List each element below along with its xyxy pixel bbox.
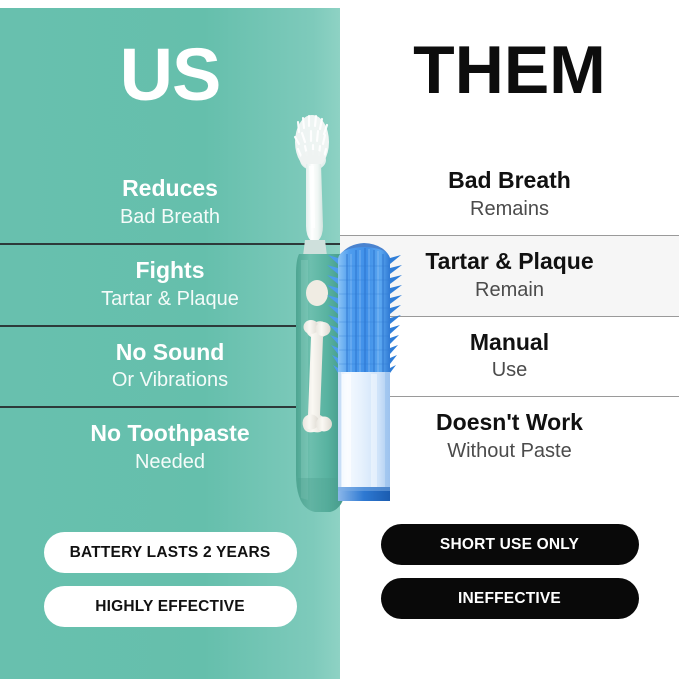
them-row-4: Doesn't Work Without Paste <box>340 396 679 477</box>
us-row-2-subtitle: Tartar & Plaque <box>6 287 334 311</box>
them-row-4-subtitle: Without Paste <box>346 439 673 463</box>
us-row-4: No Toothpaste Needed <box>0 406 340 488</box>
us-feature-rows: Reduces Bad Breath Fights Tartar & Plaqu… <box>0 163 340 488</box>
us-row-4-subtitle: Needed <box>6 450 334 474</box>
them-feature-rows: Bad Breath Remains Tartar & Plaque Remai… <box>340 155 679 477</box>
us-badge-battery: BATTERY LASTS 2 YEARS <box>44 532 297 573</box>
them-row-4-title: Doesn't Work <box>346 410 673 436</box>
us-row-2-title: Fights <box>6 258 334 284</box>
them-row-2-subtitle: Remain <box>346 278 673 302</box>
us-badge-effective: HIGHLY EFFECTIVE <box>44 586 297 627</box>
them-badge-group: SHORT USE ONLY INEFFECTIVE <box>340 524 679 632</box>
them-row-1-subtitle: Remains <box>346 197 673 221</box>
them-row-3: Manual Use <box>340 316 679 397</box>
them-row-1: Bad Breath Remains <box>340 155 679 235</box>
us-row-1-subtitle: Bad Breath <box>6 205 334 229</box>
them-badge-ineffective: INEFFECTIVE <box>381 578 639 619</box>
them-row-3-title: Manual <box>346 330 673 356</box>
comparison-infographic: US Reduces Bad Breath Fights Tartar & Pl… <box>0 0 679 679</box>
us-column-panel: US Reduces Bad Breath Fights Tartar & Pl… <box>0 8 340 679</box>
us-row-1-title: Reduces <box>6 176 334 202</box>
them-heading: THEM <box>340 36 679 104</box>
them-row-3-subtitle: Use <box>346 358 673 382</box>
them-row-1-title: Bad Breath <box>346 168 673 194</box>
us-row-3: No Sound Or Vibrations <box>0 325 340 407</box>
them-column-panel: THEM Bad Breath Remains Tartar & Plaque … <box>340 0 679 679</box>
us-badge-group: BATTERY LASTS 2 YEARS HIGHLY EFFECTIVE <box>0 532 340 640</box>
us-row-4-title: No Toothpaste <box>6 421 334 447</box>
us-row-3-subtitle: Or Vibrations <box>6 368 334 392</box>
them-row-2: Tartar & Plaque Remain <box>340 235 679 316</box>
us-heading: US <box>0 38 340 112</box>
us-row-3-title: No Sound <box>6 340 334 366</box>
them-badge-short-use: SHORT USE ONLY <box>381 524 639 565</box>
us-row-2: Fights Tartar & Plaque <box>0 243 340 325</box>
them-row-2-title: Tartar & Plaque <box>346 249 673 275</box>
us-row-1: Reduces Bad Breath <box>0 163 340 243</box>
